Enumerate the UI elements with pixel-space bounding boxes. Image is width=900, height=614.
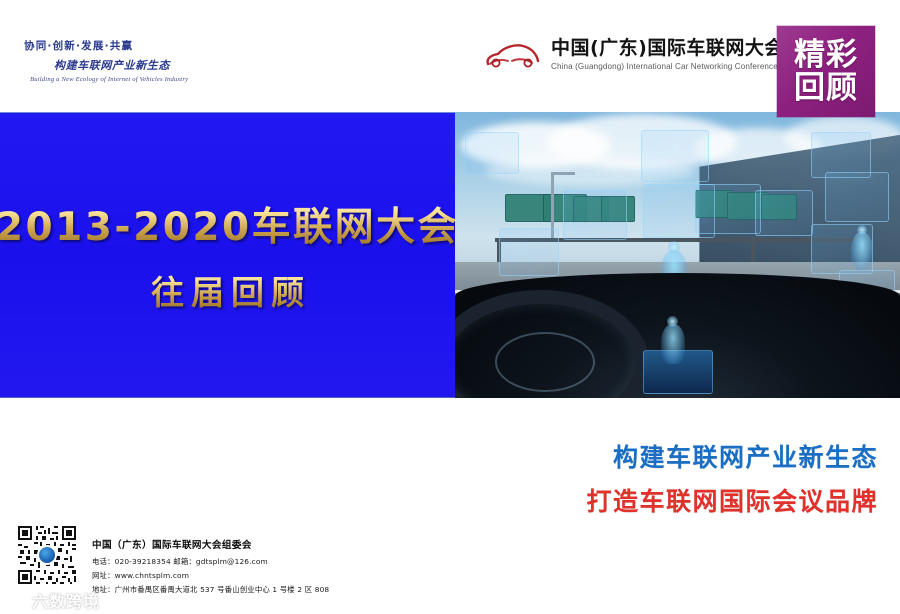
highlight-review-badge: 精彩 回顾 xyxy=(777,26,875,117)
poster-page: 协同·创新·发展·共赢 构建车联网产业新生态 Building a New Ec… xyxy=(0,0,900,614)
instrument-cluster-shape xyxy=(495,332,595,392)
organizer-name: 中国（广东）国际车联网大会组委会 xyxy=(92,537,329,551)
hero-blue-panel: 2013-2020车联网大会 往届回顾 xyxy=(0,112,455,398)
ar-overlay-box xyxy=(563,190,627,240)
hero-band: 2013-2020车联网大会 往届回顾 xyxy=(0,112,900,398)
ar-overlay-box xyxy=(641,130,709,182)
header-slogan-block: 协同·创新·发展·共赢 构建车联网产业新生态 Building a New Ec… xyxy=(18,38,218,83)
watermark: 六数跨境 xyxy=(2,587,142,613)
badge-line-1: 精彩 xyxy=(794,39,858,72)
conference-logo: 中国(广东)国际车联网大会 China (Guangdong) Internat… xyxy=(482,38,784,72)
lower-slogan-red: 打造车联网国际会议品牌 xyxy=(586,482,878,518)
street-light-arm-shape xyxy=(551,172,575,175)
ar-overlay-box xyxy=(695,184,761,234)
header-slogan-english: Building a New Ecology of Internet of Ve… xyxy=(30,76,218,83)
footer: 中国（广东）国际车联网大会组委会 电话：020-39218354 邮箱：gdts… xyxy=(0,528,900,614)
watermark-text: 六数跨境 xyxy=(32,588,100,612)
hero-subtitle: 往届回顾 xyxy=(144,266,311,314)
watermark-logo-icon xyxy=(2,591,28,609)
hologram-head-icon xyxy=(668,241,680,253)
smart-driving-photo xyxy=(455,112,900,398)
qr-code[interactable] xyxy=(16,524,78,586)
car-outline-logo-icon xyxy=(482,38,542,72)
lower-slogan-group: 构建车联网产业新生态 打造车联网国际会议品牌 xyxy=(586,438,878,518)
qr-center-logo-icon xyxy=(37,545,57,565)
contact-phone-email: 电话：020-39218354 邮箱：gdtsplm@126.com xyxy=(92,556,329,567)
hologram-pedestrian-icon xyxy=(661,324,685,364)
hero-title: 2013-2020车联网大会 xyxy=(0,196,459,252)
logo-english-name: China (Guangdong) International Car Netw… xyxy=(551,62,784,71)
header: 协同·创新·发展·共赢 构建车联网产业新生态 Building a New Ec… xyxy=(0,0,900,112)
ar-overlay-box xyxy=(499,228,559,276)
header-slogan-main: 构建车联网产业新生态 xyxy=(54,57,218,73)
logo-text-group: 中国(广东)国际车联网大会 China (Guangdong) Internat… xyxy=(551,39,784,71)
hologram-pedestrian-icon xyxy=(851,232,873,270)
hologram-head-icon xyxy=(667,316,678,327)
header-slogan-small: 协同·创新·发展·共赢 xyxy=(24,38,218,53)
ar-overlay-box xyxy=(465,132,519,174)
badge-line-2: 回顾 xyxy=(794,72,858,105)
ar-overlay-box xyxy=(755,190,813,236)
lower-slogan-blue: 构建车联网产业新生态 xyxy=(586,438,878,474)
ar-overlay-box xyxy=(825,172,889,222)
logo-chinese-name: 中国(广东)国际车联网大会 xyxy=(551,39,784,59)
lower-section: 构建车联网产业新生态 打造车联网国际会议品牌 xyxy=(0,398,900,614)
hologram-head-icon xyxy=(857,225,867,235)
contact-website[interactable]: 网址：www.chntsplm.com xyxy=(92,570,329,581)
